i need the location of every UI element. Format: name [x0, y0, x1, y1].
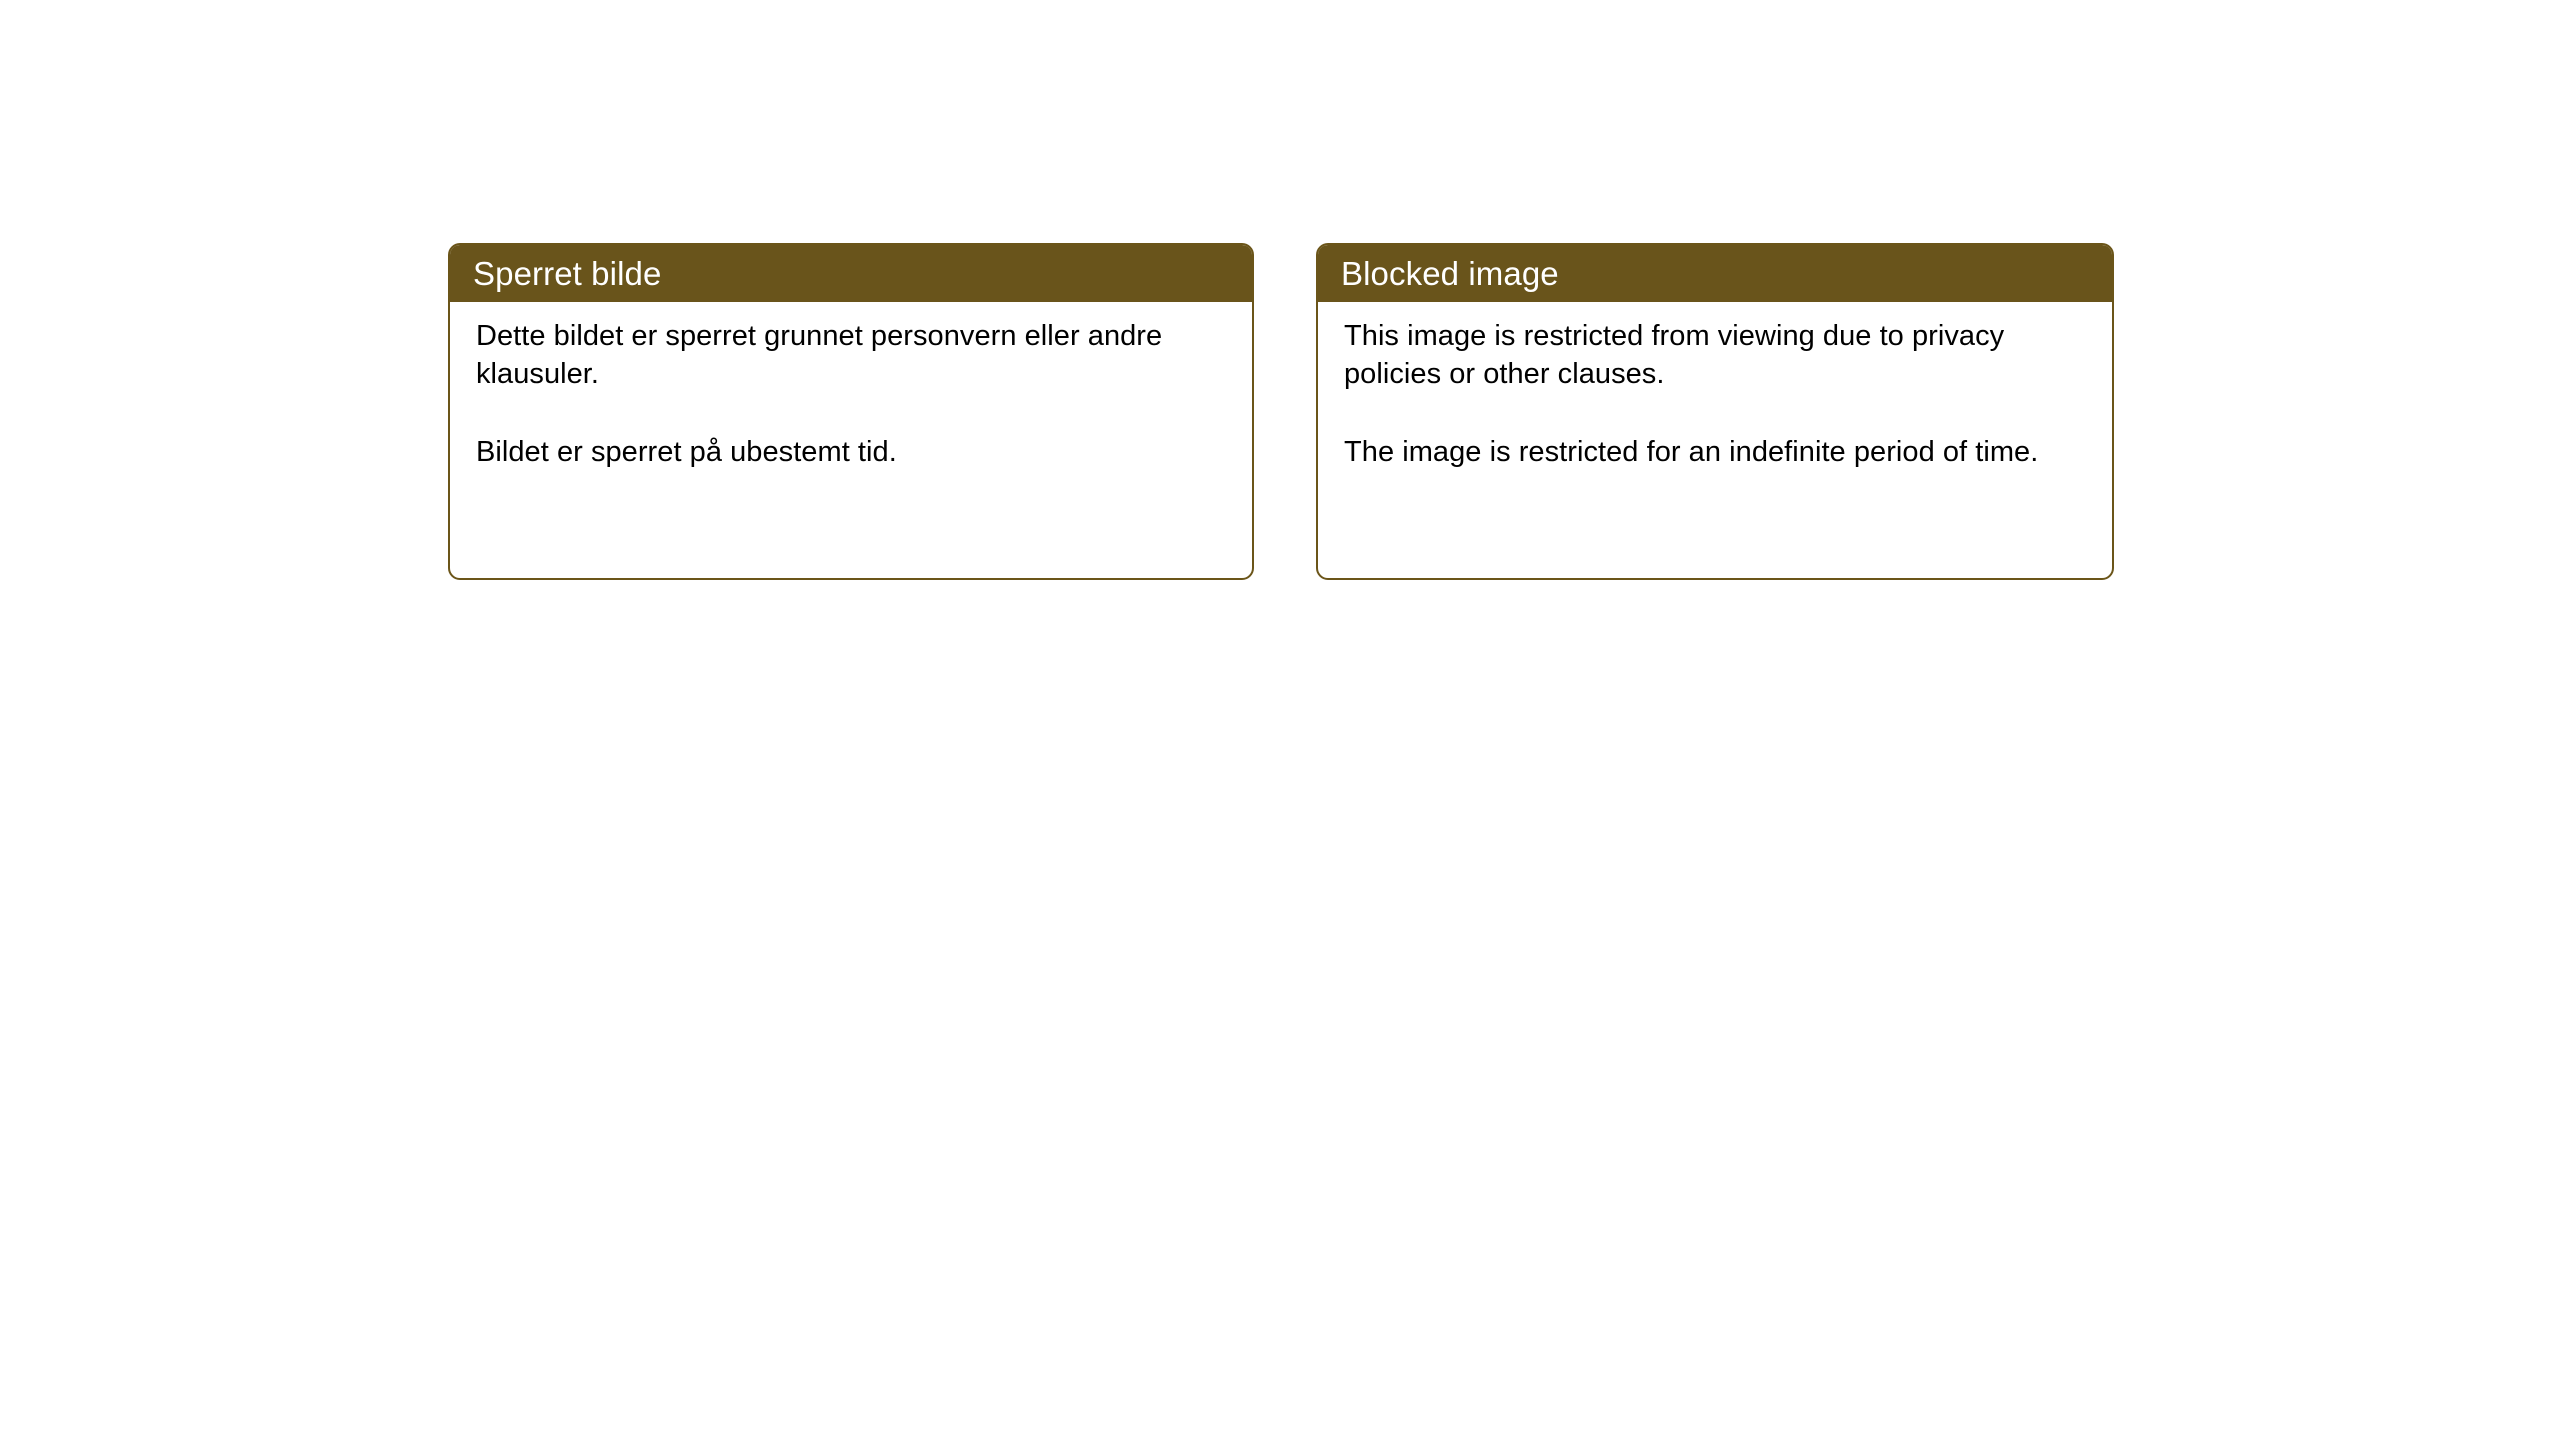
card-paragraph-duration-english: The image is restricted for an indefinit…: [1344, 434, 2064, 472]
card-body-english: This image is restricted from viewing du…: [1318, 302, 2112, 472]
card-title-norwegian: Sperret bilde: [473, 257, 661, 290]
card-paragraph-reason-norwegian: Dette bildet er sperret grunnet personve…: [476, 318, 1176, 394]
card-title-english: Blocked image: [1341, 257, 1559, 290]
blocked-image-notice-card-norwegian: Sperret bilde Dette bildet er sperret gr…: [448, 243, 1254, 580]
card-paragraph-reason-english: This image is restricted from viewing du…: [1344, 318, 2064, 394]
blocked-image-notice-card-english: Blocked image This image is restricted f…: [1316, 243, 2114, 580]
card-header-english: Blocked image: [1318, 245, 2112, 302]
card-body-norwegian: Dette bildet er sperret grunnet personve…: [450, 302, 1252, 472]
card-paragraph-duration-norwegian: Bildet er sperret på ubestemt tid.: [476, 434, 1176, 472]
card-header-norwegian: Sperret bilde: [450, 245, 1252, 302]
page-canvas: Sperret bilde Dette bildet er sperret gr…: [0, 0, 2560, 1440]
